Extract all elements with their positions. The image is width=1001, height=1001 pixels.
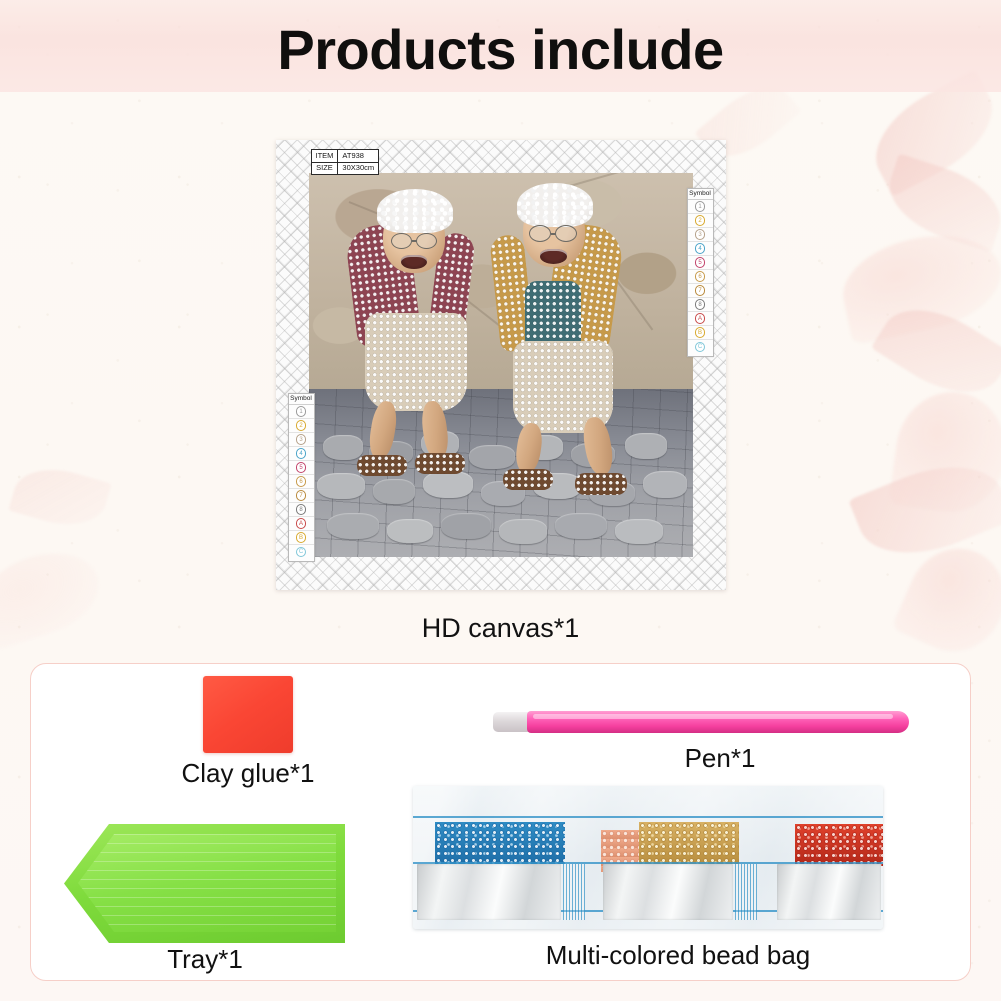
bag-foil-label	[777, 864, 881, 920]
symbol-legend-left: Symbol 12345678ABC	[288, 393, 315, 562]
symbol-legend-row: 7	[688, 284, 713, 298]
symbol-legend-row: 8	[289, 503, 314, 517]
hd-canvas-caption: HD canvas*1	[0, 613, 1001, 644]
glasses-left-lens	[391, 233, 412, 249]
glasses-right-lens	[555, 225, 577, 242]
symbol-swatch-5: 5	[296, 462, 307, 473]
symbol-legend-row: 3	[688, 228, 713, 242]
symbol-legend-row: A	[289, 517, 314, 531]
symbol-legend-row: C	[688, 340, 713, 354]
symbol-legend-row: 6	[289, 475, 314, 489]
symbol-legend-row: B	[289, 531, 314, 545]
symbol-swatch-b: B	[296, 532, 307, 543]
spec-value-size: 30X30cm	[338, 162, 379, 175]
bag-foil-label	[603, 864, 733, 920]
beaded-skirt-left	[365, 313, 467, 411]
cobblestone	[423, 471, 473, 498]
bag-zip-strip	[563, 864, 585, 920]
bag-seam-top	[413, 816, 883, 818]
cobblestone	[469, 445, 515, 469]
symbol-legend-row: A	[688, 312, 713, 326]
symbol-legend-row: 4	[688, 242, 713, 256]
glasses-right-lens	[416, 233, 437, 249]
tray-grooves	[78, 834, 336, 932]
symbol-swatch-2: 2	[695, 215, 706, 226]
hair-left	[377, 189, 453, 233]
symbol-legend-row: 1	[688, 200, 713, 214]
symbol-swatch-1: 1	[695, 201, 706, 212]
symbol-swatch-c: C	[695, 342, 706, 353]
glasses-bridge	[412, 240, 417, 242]
symbol-swatch-a: A	[695, 313, 706, 324]
cobblestone	[327, 513, 379, 539]
spec-value-item: AT938	[338, 150, 379, 163]
cobblestone	[643, 471, 687, 498]
glasses-bridge	[551, 233, 556, 235]
pen-ferrule	[493, 712, 531, 732]
spec-row-size: SIZE 30X30cm	[311, 162, 379, 175]
bag-foil-label	[417, 864, 561, 920]
cobblestone	[555, 513, 607, 539]
symbol-swatch-6: 6	[695, 271, 706, 282]
clay-glue-item	[203, 676, 293, 753]
cobblestone	[625, 433, 667, 459]
symbol-legend-row: B	[688, 326, 713, 340]
symbol-swatch-3: 3	[695, 229, 706, 240]
sandal-left-outer	[357, 455, 407, 476]
symbol-swatch-7: 7	[296, 490, 307, 501]
cobblestone	[441, 513, 491, 539]
symbol-legend-row: 7	[289, 489, 314, 503]
page-background: Products include	[0, 0, 1001, 1001]
spec-key-item: ITEM	[311, 150, 338, 163]
symbol-legend-row: 2	[289, 419, 314, 433]
symbol-swatch-7: 7	[695, 285, 706, 296]
symbol-swatch-8: 8	[296, 504, 307, 515]
symbol-swatch-1: 1	[296, 406, 307, 417]
symbol-legend-row: 3	[289, 433, 314, 447]
spec-table: ITEM AT938 SIZE 30X30cm	[311, 149, 380, 175]
mouth-left	[401, 255, 427, 269]
symbol-swatch-8: 8	[695, 299, 706, 310]
spec-row-item: ITEM AT938	[311, 150, 379, 163]
symbol-swatch-5: 5	[695, 257, 706, 268]
cobblestone	[323, 435, 363, 460]
canvas-artwork	[309, 173, 693, 557]
tray-caption: Tray*1	[105, 944, 305, 975]
bead-field-blue	[435, 822, 565, 864]
cobblestone	[387, 519, 433, 543]
symbol-legend-row: C	[289, 545, 314, 559]
symbol-legend-row: 8	[688, 298, 713, 312]
sandal-right-outer	[575, 473, 627, 495]
clay-glue-caption: Clay glue*1	[148, 758, 348, 789]
symbol-swatch-4: 4	[695, 243, 706, 254]
symbol-swatch-a: A	[296, 518, 307, 529]
pen-tip-icon	[461, 717, 497, 726]
bead-bag-caption: Multi-colored bead bag	[468, 940, 888, 971]
cobblestone	[615, 519, 663, 544]
symbol-swatch-3: 3	[296, 434, 307, 445]
symbol-swatch-6: 6	[296, 476, 307, 487]
cobblestone	[373, 479, 415, 504]
pen-item	[527, 711, 909, 733]
sandal-right-inner	[503, 469, 553, 490]
symbol-swatch-4: 4	[296, 448, 307, 459]
page-title: Products include	[0, 22, 1001, 78]
hair-right	[517, 183, 593, 227]
canvas-section: ITEM AT938 SIZE 30X30cm Symbol 12345678A…	[0, 140, 1001, 590]
symbol-legend-row: 2	[688, 214, 713, 228]
symbol-legend-right: Symbol 12345678ABC	[687, 188, 714, 357]
symbol-legend-row: 1	[289, 405, 314, 419]
symbol-legend-row: 4	[289, 447, 314, 461]
symbol-swatch-c: C	[296, 547, 307, 558]
bead-bag-item	[413, 786, 883, 929]
pen-caption: Pen*1	[620, 743, 820, 774]
symbol-swatch-2: 2	[296, 420, 307, 431]
symbol-legend-title: Symbol	[289, 395, 314, 405]
symbol-legend-row: 6	[688, 270, 713, 284]
bead-field-red	[795, 824, 883, 866]
symbol-swatch-b: B	[695, 327, 706, 338]
glasses-left-lens	[529, 225, 551, 242]
sandal-left-inner	[415, 453, 465, 474]
symbol-legend-row: 5	[289, 461, 314, 475]
mouth-right	[540, 249, 567, 264]
hd-canvas-frame: ITEM AT938 SIZE 30X30cm Symbol 12345678A…	[276, 140, 726, 590]
bead-field-gold	[639, 822, 739, 864]
cobblestone	[317, 473, 365, 499]
bag-zip-strip	[735, 864, 757, 920]
symbol-legend-title: Symbol	[688, 190, 713, 200]
cobblestone	[499, 519, 547, 544]
symbol-legend-row: 5	[688, 256, 713, 270]
spec-key-size: SIZE	[311, 162, 338, 175]
